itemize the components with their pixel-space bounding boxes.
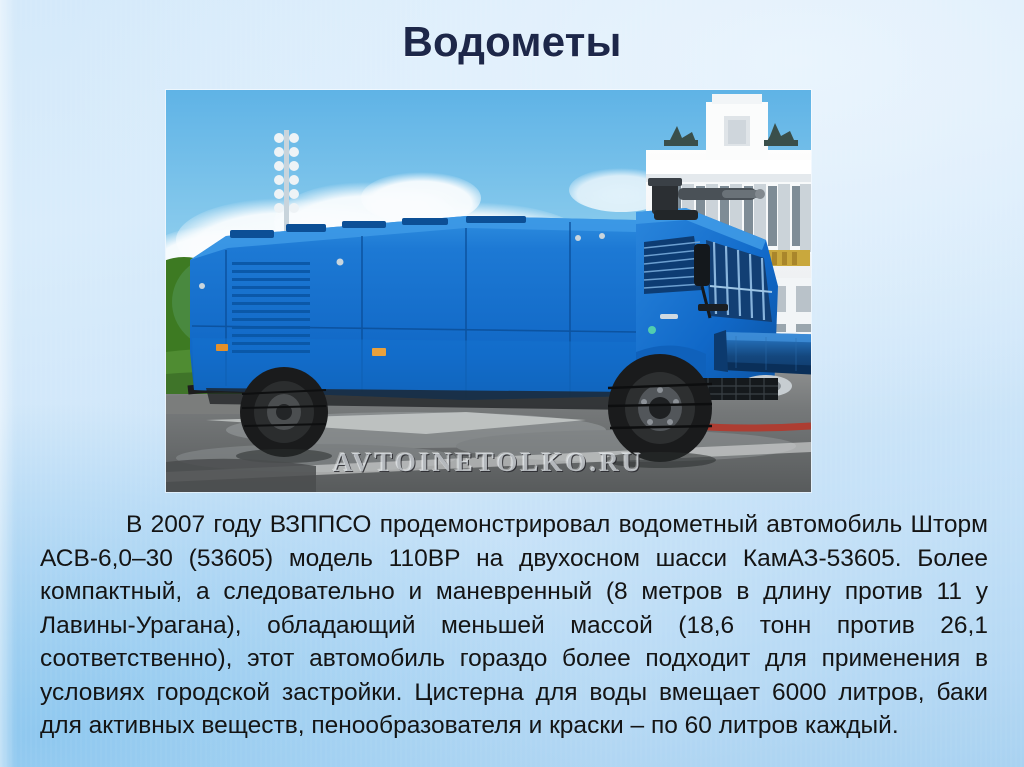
front-wheel [608,354,712,462]
rear-wheel [240,367,328,457]
presentation-slide: Водометы [0,0,1024,767]
body-paragraph: В 2007 году ВЗППСО продемонстрировал вод… [40,508,988,743]
truck-photo: AVTOINETOLKO.RU [166,90,811,492]
page-title: Водометы [0,18,1024,66]
truck-photo-illustration [166,90,811,492]
